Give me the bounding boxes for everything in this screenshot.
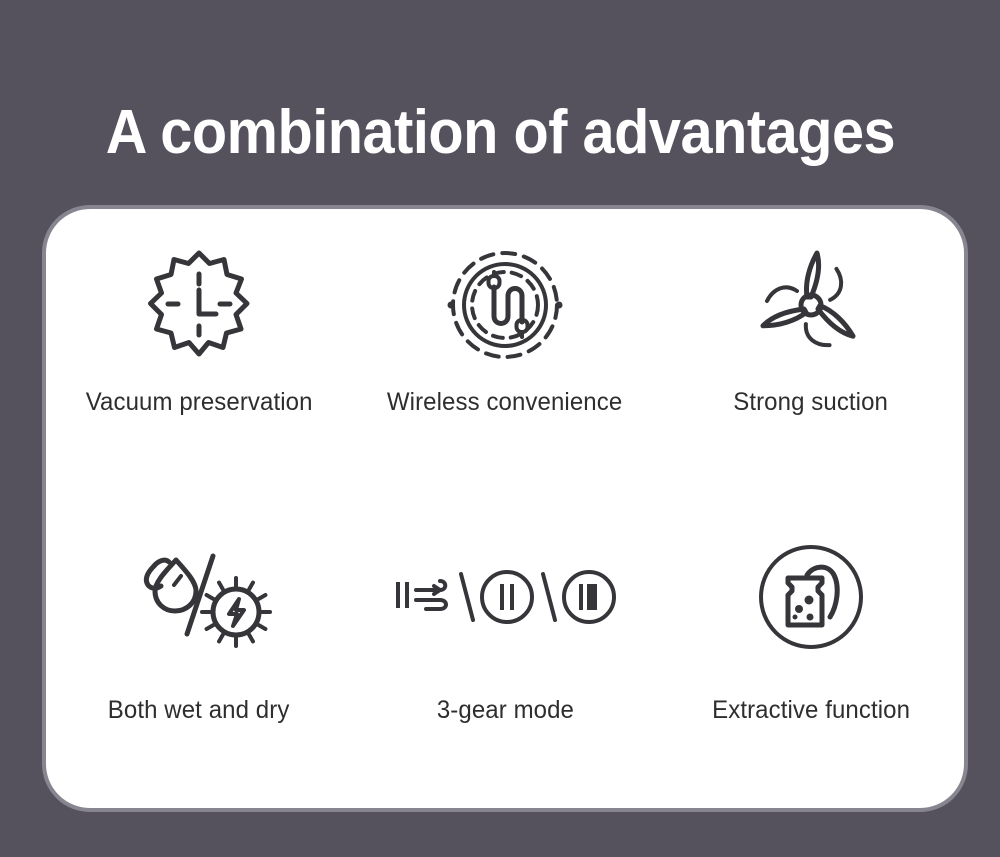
water-drops-slash-sunburst-bolt-icon [124,537,274,657]
page-title: A combination of advantages [105,94,894,172]
feature-item-vacuum-preservation: Vacuum preservation [46,209,352,509]
feature-item-wireless-convenience: Wireless convenience [352,209,658,509]
feature-label: Vacuum preservation [86,387,313,417]
page-title-wrap: A combination of advantages [0,52,1000,213]
feature-label: Wireless convenience [387,387,622,417]
feature-label: Both wet and dry [108,695,290,725]
features-card: Vacuum preservation [42,205,968,812]
features-grid: Vacuum preservation [46,209,964,808]
feature-item-extractive-function: Extractive function [658,509,964,809]
feature-item-strong-suction: Strong suction [658,209,964,509]
jar-with-hose-circle-icon [752,537,870,657]
feature-item-both-wet-and-dry: Both wet and dry [46,509,352,809]
vacuum-seal-burst-clock-icon [140,245,258,365]
feature-item-3-gear-mode: 3-gear mode [352,509,658,809]
advantages-page: A combination of advantages Vacuum prese… [0,0,1000,857]
feature-label: Strong suction [734,387,889,417]
feature-label: Extractive function [712,695,910,725]
feature-label: 3-gear mode [436,695,573,725]
three-gear-mode-indicator-icon [390,537,620,657]
dashed-circle-cable-icon [446,245,564,365]
three-blade-fan-icon [752,245,870,365]
